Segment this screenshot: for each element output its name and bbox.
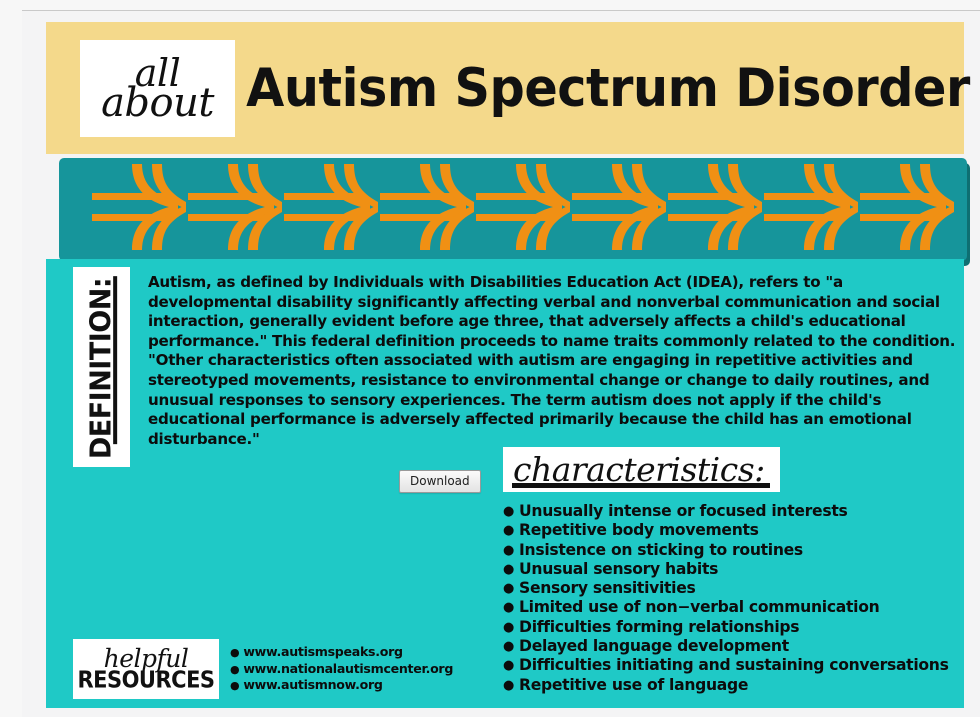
definition-label-box: DEFINITION: (73, 267, 130, 467)
resource-link-label: www.autismspeaks.org (243, 644, 402, 659)
characteristic-label: Repetitive use of language (519, 676, 748, 694)
bullet-dot-icon: ● (503, 658, 514, 673)
resource-link[interactable]: ●www.autismnow.org (230, 677, 453, 694)
characteristic-label: Insistence on sticking to routines (519, 541, 803, 559)
poster-canvas: all about Autism Spectrum Disorder (22, 11, 980, 717)
resources-heading-bold: RESOURCES (77, 670, 214, 692)
arrow-banner (59, 158, 967, 261)
characteristic-label: Difficulties forming relationships (519, 618, 799, 636)
definition-paragraph: Autism, as defined by Individuals with D… (148, 273, 960, 449)
resource-link-label: www.nationalautismcenter.org (243, 661, 453, 676)
characteristic-item: ●Difficulties forming relationships (503, 618, 953, 637)
bullet-dot-icon: ● (503, 581, 514, 596)
logo-line-about: about (101, 87, 214, 120)
characteristic-label: Unusual sensory habits (519, 560, 718, 578)
page-title: Autism Spectrum Disorder (277, 22, 939, 154)
download-button[interactable]: Download (399, 470, 481, 493)
definition-label: DEFINITION: (85, 277, 118, 458)
bullet-dot-icon: ● (503, 504, 514, 519)
characteristics-heading-rule (512, 483, 770, 488)
characteristic-label: Repetitive body movements (519, 521, 759, 539)
characteristics-list: ●Unusually intense or focused interests●… (503, 502, 953, 695)
resources-links: ●www.autismspeaks.org●www.nationalautism… (230, 644, 453, 694)
characteristic-item: ●Unusually intense or focused interests (503, 502, 953, 521)
bullet-dot-icon: ● (503, 620, 514, 635)
helpful-resources-heading-box: helpful RESOURCES (73, 639, 219, 699)
bullet-dot-icon: ● (503, 600, 514, 615)
bullet-dot-icon: ● (230, 679, 239, 692)
characteristic-item: ●Delayed language development (503, 637, 953, 656)
characteristic-label: Unusually intense or focused interests (519, 502, 847, 520)
resource-link-label: www.autismnow.org (243, 677, 382, 692)
characteristic-label: Delayed language development (519, 637, 789, 655)
characteristics-heading: characteristics: (513, 453, 780, 486)
characteristic-item: ●Unusual sensory habits (503, 560, 953, 579)
resource-link[interactable]: ●www.nationalautismcenter.org (230, 661, 453, 678)
bullet-dot-icon: ● (503, 639, 514, 654)
arrow-banner-motif (59, 158, 967, 261)
bullet-dot-icon: ● (230, 646, 239, 659)
bullet-dot-icon: ● (503, 562, 514, 577)
characteristic-item: ●Repetitive body movements (503, 521, 953, 540)
bullet-dot-icon: ● (503, 543, 514, 558)
bullet-dot-icon: ● (230, 663, 239, 676)
resource-link[interactable]: ●www.autismspeaks.org (230, 644, 453, 661)
all-about-logo: all about (80, 40, 235, 137)
characteristic-item: ●Sensory sensitivities (503, 579, 953, 598)
characteristic-item: ●Limited use of non−verbal communication (503, 598, 953, 617)
definition-label-inner: DEFINITION: (86, 275, 117, 458)
bullet-dot-icon: ● (503, 523, 514, 538)
characteristic-label: Difficulties initiating and sustaining c… (519, 656, 949, 674)
bullet-dot-icon: ● (503, 678, 514, 693)
characteristic-label: Limited use of non−verbal communication (519, 598, 879, 616)
characteristics-heading-box: characteristics: (503, 447, 780, 492)
characteristic-item: ●Repetitive use of language (503, 676, 953, 695)
characteristic-label: Sensory sensitivities (519, 579, 695, 597)
characteristic-item: ●Insistence on sticking to routines (503, 541, 953, 560)
characteristic-item: ●Difficulties initiating and sustaining … (503, 656, 953, 675)
